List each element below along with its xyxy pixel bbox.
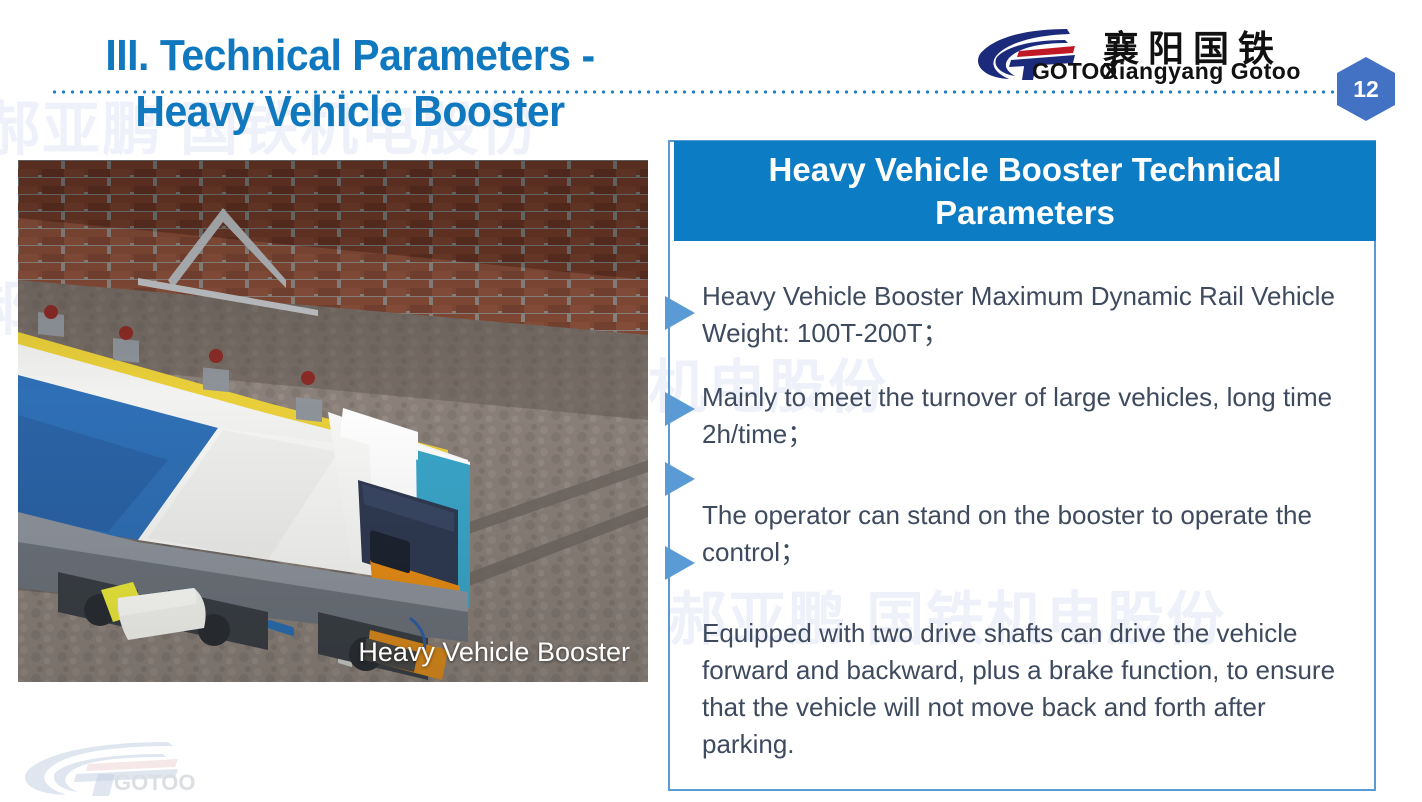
brand-logo: GOTOO 襄阳国铁 Xiangyang Gotoo xyxy=(975,22,1295,88)
logo-english-text: Xiangyang Gotoo xyxy=(1103,58,1301,85)
title-line-2: Heavy Vehicle Booster xyxy=(25,84,676,140)
panel-header-title: Heavy Vehicle Booster Technical Paramete… xyxy=(674,148,1376,234)
list-item: Equipped with two drive shafts can drive… xyxy=(702,615,1362,763)
bullet-list: Heavy Vehicle Booster Maximum Dynamic Ra… xyxy=(702,278,1362,763)
svg-text:GOTOO: GOTOO xyxy=(114,770,196,795)
locomotive-photo: Heavy Vehicle Booster xyxy=(18,160,648,682)
list-item: Mainly to meet the turnover of large veh… xyxy=(702,379,1362,453)
page-number: 12 xyxy=(1353,76,1379,103)
footer-logo: GOTOO xyxy=(18,738,218,796)
page-number-badge: 12 xyxy=(1337,57,1395,121)
list-item: Heavy Vehicle Booster Maximum Dynamic Ra… xyxy=(702,278,1362,352)
title-line-1: III. Technical Parameters - xyxy=(25,28,676,84)
panel-header: Heavy Vehicle Booster Technical Paramete… xyxy=(674,141,1376,241)
photo-caption: Heavy Vehicle Booster xyxy=(358,637,630,668)
list-item: The operator can stand on the booster to… xyxy=(702,497,1362,571)
hexagon-shape: 12 xyxy=(1337,57,1395,121)
page-title: III. Technical Parameters - Heavy Vehicl… xyxy=(0,28,700,140)
